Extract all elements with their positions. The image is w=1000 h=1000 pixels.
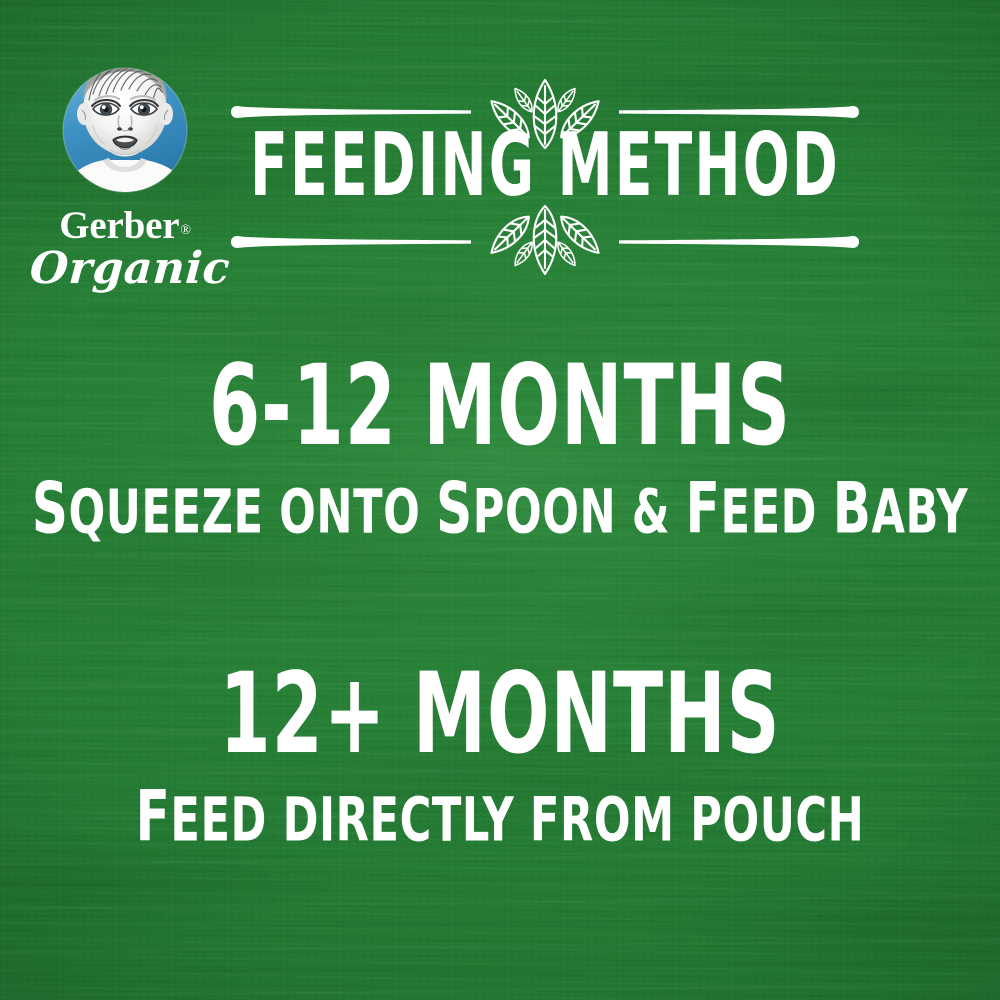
instruction-block: 12+ MONTHS FEED DIRECTLY FROM POUCH xyxy=(0,652,1000,841)
instruction-text: FEED DIRECTLY FROM POUCH xyxy=(20,782,980,854)
gerber-wordmark: Gerber® xyxy=(59,206,191,245)
age-range-label: 12+ MONTHS xyxy=(25,652,975,777)
instruction-block: 6-12 MONTHS SQUEEZE ONTO SPOON & FEED BA… xyxy=(0,344,1000,533)
brand-lockup: Gerber® Organic xyxy=(30,52,220,292)
page-title: FEEDING METHOD xyxy=(247,116,842,216)
organic-wordmark: Organic xyxy=(28,246,221,292)
age-range-label: 6-12 MONTHS xyxy=(25,344,975,469)
leaf-cluster-icon xyxy=(473,204,617,280)
feeding-method-panel: Gerber® Organic xyxy=(0,0,1000,1000)
tapered-rule-icon xyxy=(617,231,865,253)
gerber-wordmark-text: Gerber xyxy=(59,204,179,247)
registered-trademark-icon: ® xyxy=(180,223,190,238)
header: FEEDING METHOD xyxy=(225,28,865,253)
tapered-rule-icon xyxy=(225,231,473,253)
header-bottom-ornament-row xyxy=(225,224,865,260)
instruction-text: SQUEEZE ONTO SPOON & FEED BABY xyxy=(20,474,980,546)
gerber-baby-medallion-icon xyxy=(49,52,201,204)
